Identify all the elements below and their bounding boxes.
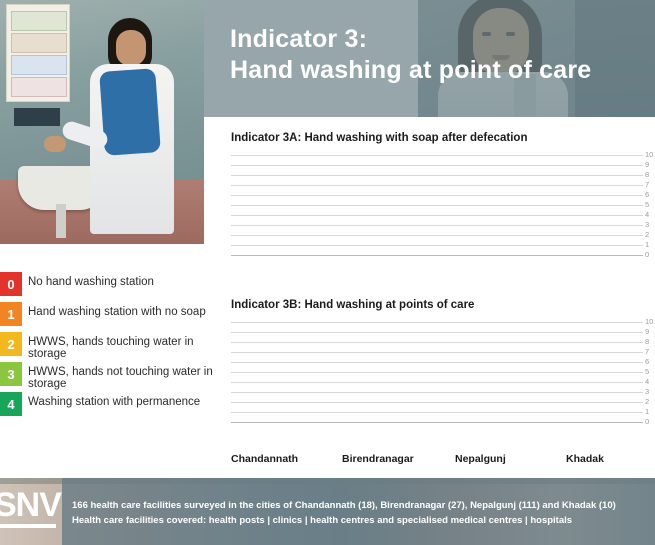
x-label-birendranagar: Birendranagar <box>342 453 414 465</box>
x-label-nepalgunj: Nepalgunj <box>455 453 506 465</box>
chart-a-title: Indicator 3A: Hand washing with soap aft… <box>231 132 527 144</box>
photo-handwashing-station <box>0 0 204 244</box>
gridline <box>231 215 643 216</box>
gridline <box>231 205 643 206</box>
gridline <box>231 382 643 383</box>
chart-b-ytick-10: 10 <box>645 318 653 326</box>
legend-item-0: 0 No hand washing station <box>0 270 215 300</box>
gridline <box>231 352 643 353</box>
legend-chip-0: 0 <box>0 272 22 296</box>
chart-a-ytick-2: 2 <box>645 231 649 239</box>
chart-b-ytick-8: 8 <box>645 338 649 346</box>
gridline <box>231 342 643 343</box>
wall-sign-icon <box>14 108 60 126</box>
chart-b-ytick-3: 3 <box>645 388 649 396</box>
gridline <box>231 245 643 246</box>
chart-b-ytick-4: 4 <box>645 378 649 386</box>
footer-text: 166 health care facilities surveyed in t… <box>72 498 632 528</box>
chart-b-ytick-1: 1 <box>645 408 649 416</box>
gridline <box>231 155 643 156</box>
gridline <box>231 165 643 166</box>
wall-poster-icon <box>6 4 70 102</box>
gridline <box>231 412 643 413</box>
page-title-line2: Hand washing at point of care <box>230 55 591 86</box>
chart-a-ytick-5: 5 <box>645 201 649 209</box>
title-banner: Indicator 3: Hand washing at point of ca… <box>204 0 655 117</box>
chart-b-ytick-2: 2 <box>645 398 649 406</box>
legend-label-0: No hand washing station <box>28 276 154 288</box>
chart-a-ytick-0: 0 <box>645 251 649 259</box>
snv-logo: SNV <box>0 486 61 525</box>
legend-item-2: 2 HWWS, hands touching water in storage <box>0 330 215 360</box>
footer-line-2: Health care facilities covered: health p… <box>72 513 632 528</box>
legend-label-2: HWWS, hands touching water in storage <box>28 336 215 360</box>
legend-label-1: Hand washing station with no soap <box>28 306 206 318</box>
chart-a-ytick-10: 10 <box>645 151 653 159</box>
page-title: Indicator 3: Hand washing at point of ca… <box>230 24 591 86</box>
gridline <box>231 402 643 403</box>
chart-b-plot: 10 9 8 7 6 5 4 3 2 1 0 <box>231 322 643 430</box>
chart-a-ytick-9: 9 <box>645 161 649 169</box>
chart-a-plot: 10 9 8 7 6 5 4 3 2 1 0 <box>231 155 643 263</box>
x-label-khadak: Khadak <box>566 453 604 465</box>
photo-person-left <box>84 18 180 244</box>
chart-a-ytick-6: 6 <box>645 191 649 199</box>
chart-a-ytick-4: 4 <box>645 211 649 219</box>
gridline <box>231 332 643 333</box>
legend-chip-2: 2 <box>0 332 22 356</box>
legend-chip-3: 3 <box>0 362 22 386</box>
legend-item-1: 1 Hand washing station with no soap <box>0 300 215 330</box>
chart-a-ytick-3: 3 <box>645 221 649 229</box>
legend-item-4: 4 Washing station with permanence <box>0 390 215 420</box>
gridline <box>231 392 643 393</box>
chart-a-ytick-7: 7 <box>645 181 649 189</box>
gridline <box>231 175 643 176</box>
legend-item-3: 3 HWWS, hands not touching water in stor… <box>0 360 215 390</box>
slide-page: Indicator 3: Hand washing at point of ca… <box>0 0 655 545</box>
legend-label-3: HWWS, hands not touching water in storag… <box>28 366 215 390</box>
gridline <box>231 225 643 226</box>
snv-logo-underline <box>0 524 56 528</box>
legend-chip-4: 4 <box>0 392 22 416</box>
legend-label-4: Washing station with permanence <box>28 396 200 408</box>
gridline <box>231 235 643 236</box>
chart-b-ytick-0: 0 <box>645 418 649 426</box>
chart-b-ytick-9: 9 <box>645 328 649 336</box>
gridline <box>231 195 643 196</box>
chart-b-ytick-6: 6 <box>645 358 649 366</box>
page-title-line1: Indicator 3: <box>230 24 591 55</box>
gridline <box>231 362 643 363</box>
sink-pipe-icon <box>56 204 66 238</box>
gridline <box>231 322 643 323</box>
gridline <box>231 372 643 373</box>
chart-b-title: Indicator 3B: Hand washing at points of … <box>231 299 474 311</box>
axis-baseline <box>231 255 643 256</box>
legend-chip-1: 1 <box>0 302 22 326</box>
chart-a-ytick-1: 1 <box>645 241 649 249</box>
chart-b-ytick-7: 7 <box>645 348 649 356</box>
chart-x-axis-labels: Chandannath Birendranagar Nepalgunj Khad… <box>231 453 643 469</box>
chart-a-ytick-8: 8 <box>645 171 649 179</box>
footer-line-1: 166 health care facilities surveyed in t… <box>72 498 632 513</box>
chart-b-ytick-5: 5 <box>645 368 649 376</box>
gridline <box>231 185 643 186</box>
axis-baseline <box>231 422 643 423</box>
legend: 0 No hand washing station 1 Hand washing… <box>0 270 215 420</box>
x-label-chandannath: Chandannath <box>231 453 298 465</box>
